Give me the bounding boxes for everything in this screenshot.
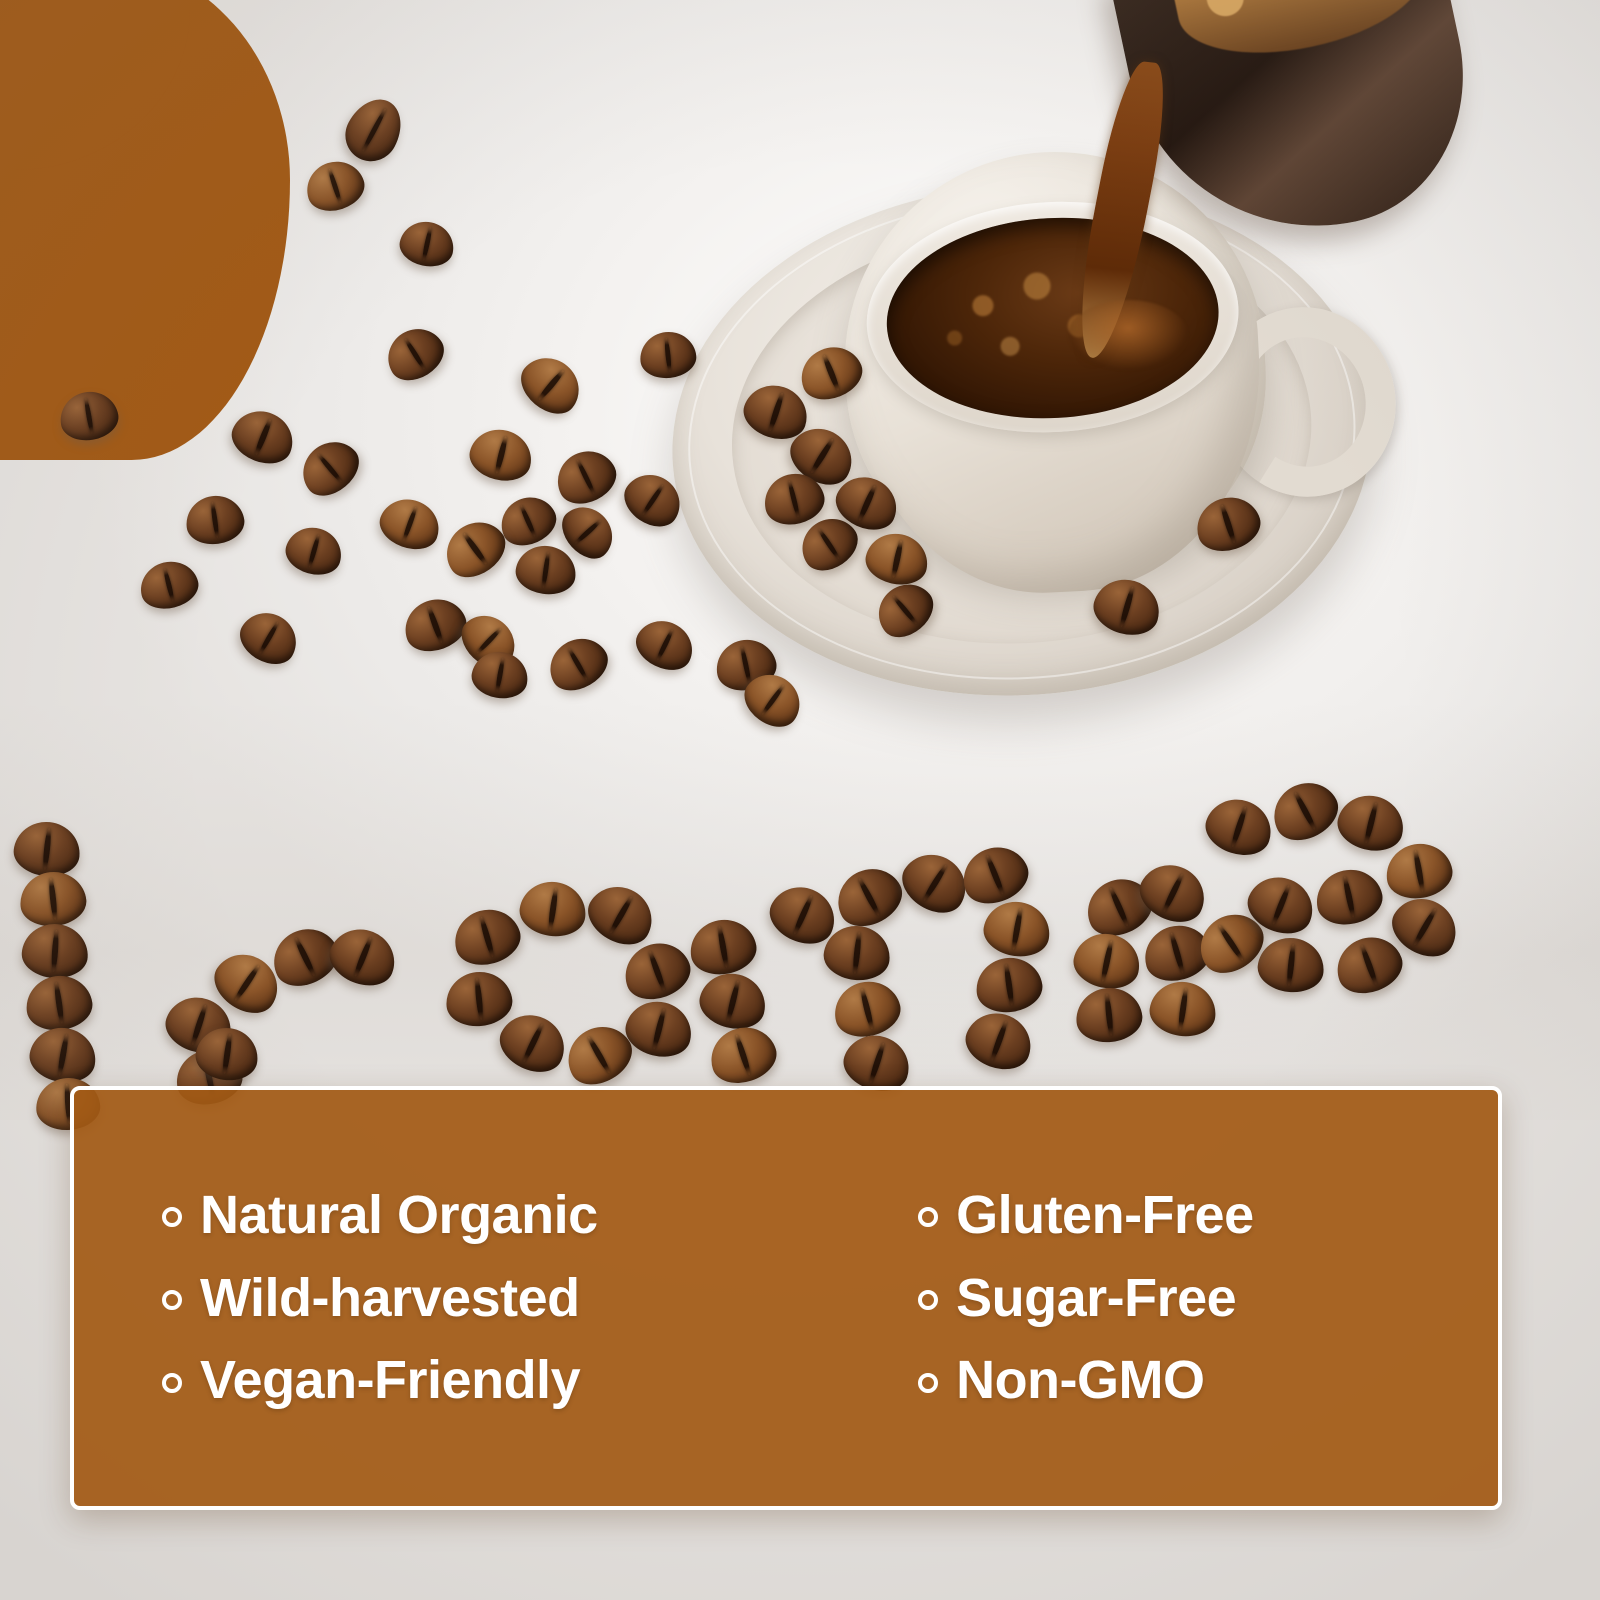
benefit-label: Natural Organic (200, 1187, 598, 1244)
benefits-column-right: Gluten-Free Sugar-Free Non-GMO (896, 1187, 1474, 1409)
benefit-item: Non-GMO (918, 1352, 1474, 1409)
circle-outline-bullet-icon (162, 1373, 182, 1393)
benefit-label: Gluten-Free (956, 1187, 1254, 1244)
circle-outline-bullet-icon (918, 1373, 938, 1393)
circle-outline-bullet-icon (162, 1207, 182, 1227)
benefit-label: Non-GMO (956, 1352, 1204, 1409)
circle-outline-bullet-icon (162, 1290, 182, 1310)
benefit-label: Vegan-Friendly (200, 1352, 580, 1409)
benefits-column-left: Natural Organic Wild-harvested Vegan-Fri… (98, 1187, 896, 1409)
circle-outline-bullet-icon (918, 1207, 938, 1227)
benefit-label: Wild-harvested (200, 1270, 580, 1327)
product-feature-image: Natural Organic Wild-harvested Vegan-Fri… (0, 0, 1600, 1600)
benefits-panel: Natural Organic Wild-harvested Vegan-Fri… (70, 1086, 1502, 1510)
benefit-item: Wild-harvested (162, 1270, 896, 1327)
benefit-label: Sugar-Free (956, 1270, 1236, 1327)
benefit-item: Gluten-Free (918, 1187, 1474, 1244)
benefit-item: Natural Organic (162, 1187, 896, 1244)
circle-outline-bullet-icon (918, 1290, 938, 1310)
benefit-item: Vegan-Friendly (162, 1352, 896, 1409)
benefit-item: Sugar-Free (918, 1270, 1474, 1327)
